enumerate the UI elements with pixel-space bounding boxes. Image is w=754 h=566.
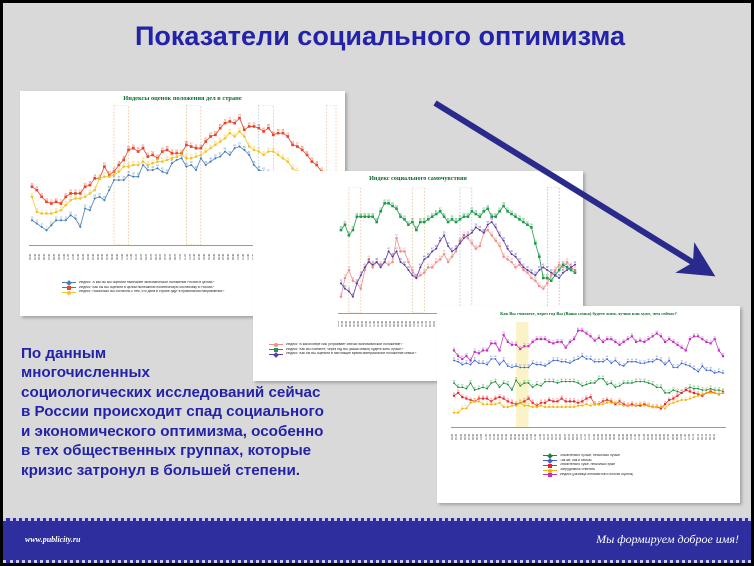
svg-text:42: 42 [161,168,164,171]
svg-text:45: 45 [614,358,617,360]
chart3-legend: Значительно лучше, несколько лучшеТак же… [543,454,733,478]
svg-text:58: 58 [635,339,638,341]
svg-text:20: 20 [84,205,87,208]
svg-text:26: 26 [482,385,485,387]
svg-text:30: 30 [635,379,638,381]
svg-text:60: 60 [544,336,547,338]
svg-text:65: 65 [229,129,232,132]
svg-text:14: 14 [490,402,493,404]
svg-text:29: 29 [503,380,506,382]
svg-text:30: 30 [560,379,563,381]
svg-text:11: 11 [36,220,39,223]
svg-text:30: 30 [565,379,568,381]
svg-text:52: 52 [482,348,485,350]
svg-text:58: 58 [522,219,525,221]
svg-text:13: 13 [31,216,34,219]
svg-text:45: 45 [502,254,505,256]
svg-text:62: 62 [439,208,442,210]
svg-text:39: 39 [693,366,696,368]
svg-text:62: 62 [589,334,592,336]
svg-text:64: 64 [656,331,659,333]
svg-text:69: 69 [253,122,256,125]
svg-text:42: 42 [685,362,688,364]
legend-item[interactable]: Затрудняюсь ответить [543,468,733,472]
svg-text:30: 30 [340,294,343,296]
svg-text:52: 52 [395,235,398,237]
svg-text:15: 15 [610,400,613,402]
svg-text:18: 18 [465,396,468,398]
svg-text:43: 43 [566,259,569,261]
svg-text:58: 58 [556,339,559,341]
legend-item-label: Индекс "А как бы Вы оценили нынешнее эко… [79,281,215,285]
svg-text:14: 14 [602,402,605,404]
svg-text:30: 30 [552,379,555,381]
svg-text:12: 12 [652,404,655,406]
svg-text:26: 26 [461,385,464,387]
svg-text:61: 61 [475,211,478,213]
svg-text:23: 23 [676,389,679,391]
svg-text:64: 64 [272,131,275,134]
svg-text:29: 29 [627,380,630,382]
svg-text:32: 32 [348,288,351,290]
svg-text:57: 57 [190,143,193,146]
svg-text:16: 16 [602,399,605,401]
chart-panel-family-life-forecast[interactable]: Как Вы считаете, через год Вы (Ваша семь… [437,306,740,503]
svg-text:18: 18 [35,208,38,211]
svg-text:40: 40 [526,267,529,269]
svg-text:36: 36 [352,278,355,280]
body-text-line: По данным [21,344,451,363]
svg-text:48: 48 [465,353,468,355]
svg-text:44: 44 [598,359,601,361]
svg-text:48: 48 [581,353,584,355]
svg-text:46: 46 [146,161,149,164]
svg-text:31: 31 [35,186,38,189]
svg-text:40: 40 [127,171,130,174]
svg-text:19: 19 [589,394,592,396]
svg-text:58: 58 [548,339,551,341]
svg-text:63: 63 [286,133,289,136]
footer-bar: www.publicity.ru Мы формируем доброе имя… [3,518,754,563]
svg-text:47: 47 [403,248,406,250]
svg-text:54: 54 [257,148,260,151]
svg-text:40: 40 [348,267,351,269]
legend-item-label: Так же, как и сейчас [560,459,592,463]
legend-item-label: Значительно хуже, несколько хуже [560,463,615,467]
svg-text:24: 24 [714,387,717,389]
svg-text:68: 68 [267,124,270,127]
legend-item-label: Индекс "Как бы Вы оценили в целом нынешн… [79,286,215,290]
svg-text:15: 15 [577,400,580,402]
body-text-line: и экономического оптимизма, особенно [21,422,451,441]
svg-text:38: 38 [709,368,712,370]
svg-text:12: 12 [560,404,563,406]
svg-text:18: 18 [527,396,530,398]
svg-text:22: 22 [722,390,725,392]
legend-marker-icon [62,282,76,283]
svg-text:8: 8 [453,410,455,412]
body-text-line: многочисленных [21,363,451,382]
svg-text:72: 72 [229,117,232,120]
svg-text:15: 15 [540,400,543,402]
svg-text:49: 49 [479,243,482,245]
svg-text:13: 13 [527,403,530,405]
svg-text:60: 60 [367,214,370,216]
presentation-slide: Показатели социального оптимизма Индексы… [0,0,754,566]
svg-text:56: 56 [475,224,478,226]
svg-text:55: 55 [166,146,169,149]
svg-text:24: 24 [474,387,477,389]
svg-text:43: 43 [532,360,535,362]
body-text-line: социологических исследований сейчас [21,383,451,402]
svg-text:45: 45 [103,163,106,166]
svg-text:56: 56 [530,224,533,226]
svg-text:47: 47 [151,159,154,162]
svg-text:51: 51 [502,238,505,240]
svg-text:23: 23 [689,389,692,391]
svg-text:44: 44 [565,359,568,361]
svg-text:62: 62 [693,334,696,336]
svg-text:46: 46 [253,161,256,164]
svg-text:58: 58 [185,141,188,144]
svg-text:39: 39 [132,173,135,176]
svg-text:41: 41 [507,363,510,365]
svg-text:29: 29 [556,380,559,382]
svg-text:43: 43 [399,259,402,261]
svg-text:37: 37 [546,275,549,277]
svg-text:57: 57 [494,341,497,343]
body-text-line: в тех общественных группах, которые [21,441,451,460]
svg-text:43: 43 [680,360,683,362]
svg-text:44: 44 [560,359,563,361]
svg-text:45: 45 [514,254,517,256]
svg-text:58: 58 [705,339,708,341]
svg-text:50: 50 [185,154,188,157]
svg-text:60: 60 [490,214,493,216]
svg-text:25: 25 [697,386,700,388]
svg-text:15: 15 [511,400,514,402]
svg-text:30: 30 [494,379,497,381]
svg-text:40: 40 [511,365,514,367]
svg-text:28: 28 [652,382,655,384]
svg-text:50: 50 [214,154,217,157]
svg-text:62: 62 [631,334,634,336]
svg-text:45: 45 [185,163,188,166]
svg-text:22: 22 [664,390,667,392]
svg-text:52: 52 [498,348,501,350]
svg-text:22: 22 [457,390,460,392]
svg-text:41: 41 [427,264,430,266]
svg-text:55: 55 [243,146,246,149]
svg-text:65: 65 [282,129,285,132]
svg-text:26: 26 [74,195,77,198]
svg-text:35: 35 [340,280,343,282]
svg-text:30: 30 [639,379,642,381]
svg-text:43: 43 [482,360,485,362]
body-text: По данныммногочисленныхсоциологических и… [21,344,451,480]
svg-text:41: 41 [522,264,525,266]
svg-text:54: 54 [224,148,227,151]
svg-text:16: 16 [69,211,72,214]
svg-text:56: 56 [132,144,135,147]
svg-text:62: 62 [660,334,663,336]
svg-text:42: 42 [574,262,577,264]
svg-text:60: 60 [360,214,363,216]
svg-text:17: 17 [668,397,671,399]
svg-text:53: 53 [171,149,174,152]
svg-text:57: 57 [344,222,347,224]
legend-marker-icon [62,292,76,293]
svg-text:42: 42 [540,362,543,364]
svg-text:65: 65 [383,200,386,202]
svg-text:40: 40 [407,267,410,269]
svg-text:15: 15 [672,400,675,402]
svg-text:47: 47 [387,248,390,250]
svg-text:60: 60 [540,336,543,338]
svg-text:46: 46 [443,251,446,253]
svg-text:17: 17 [45,210,48,213]
svg-text:43: 43 [510,259,513,261]
svg-text:58: 58 [614,339,617,341]
svg-text:55: 55 [253,146,256,149]
svg-text:61: 61 [510,211,513,213]
svg-text:56: 56 [494,224,497,226]
svg-text:65: 65 [387,200,390,202]
legend-item[interactable]: Значительно хуже, несколько хуже [543,463,733,467]
svg-text:16: 16 [569,399,572,401]
svg-text:34: 34 [538,283,541,285]
svg-text:63: 63 [243,133,246,136]
svg-text:54: 54 [267,148,270,151]
svg-text:12: 12 [556,404,559,406]
svg-text:18: 18 [486,396,489,398]
svg-text:42: 42 [562,262,565,264]
legend-item-label: Затрудняюсь ответить [560,468,595,472]
svg-text:13: 13 [540,403,543,405]
svg-text:60: 60 [701,336,704,338]
svg-text:24: 24 [672,387,675,389]
svg-text:39: 39 [574,270,577,272]
svg-text:33: 33 [84,183,87,186]
svg-text:54: 54 [161,148,164,151]
svg-text:15: 15 [498,400,501,402]
svg-text:43: 43 [407,259,410,261]
chart2-plot-area: 3037403635334044414342434243524747434037… [338,187,578,313]
svg-text:51: 51 [146,153,149,156]
svg-text:30: 30 [573,379,576,381]
svg-text:22: 22 [705,390,708,392]
svg-text:49: 49 [447,243,450,245]
svg-text:71: 71 [224,119,227,122]
svg-text:22: 22 [693,390,696,392]
legend-item[interactable]: Индекс (разница оптимистов и плохих оцен… [543,473,733,477]
svg-text:17: 17 [685,397,688,399]
svg-text:26: 26 [614,385,617,387]
svg-text:24: 24 [55,198,58,201]
svg-text:58: 58 [672,339,675,341]
svg-text:61: 61 [598,335,601,337]
svg-text:63: 63 [486,206,489,208]
svg-text:44: 44 [291,164,294,167]
svg-text:56: 56 [676,342,679,344]
svg-text:48: 48 [722,353,725,355]
svg-text:44: 44 [506,256,509,258]
svg-text:66: 66 [577,328,580,330]
svg-text:13: 13 [635,403,638,405]
svg-text:30: 30 [569,379,572,381]
svg-text:43: 43 [478,360,481,362]
svg-text:59: 59 [639,338,642,340]
svg-text:45: 45 [453,358,456,360]
svg-text:13: 13 [55,216,58,219]
body-text-line: в России происходит спад социального [21,402,451,421]
svg-text:21: 21 [701,392,704,394]
footer-website-link[interactable]: www.publicity.ru [25,535,80,544]
svg-text:59: 59 [518,216,521,218]
svg-text:52: 52 [248,151,251,154]
svg-text:50: 50 [282,154,285,157]
svg-text:43: 43 [151,166,154,169]
svg-text:12: 12 [544,404,547,406]
svg-text:25: 25 [69,196,72,199]
svg-text:45: 45 [538,254,541,256]
svg-text:15: 15 [532,400,535,402]
svg-text:40: 40 [672,365,675,367]
svg-text:32: 32 [602,376,605,378]
svg-text:29: 29 [623,380,626,382]
svg-text:46: 46 [132,161,135,164]
svg-text:12: 12 [573,404,576,406]
svg-text:58: 58 [507,339,510,341]
svg-text:60: 60 [610,336,613,338]
svg-text:16: 16 [507,399,510,401]
svg-text:14: 14 [482,402,485,404]
svg-text:12: 12 [656,404,659,406]
svg-text:46: 46 [315,161,318,164]
svg-text:60: 60 [714,336,717,338]
svg-text:14: 14 [494,402,497,404]
svg-text:45: 45 [127,163,130,166]
svg-text:39: 39 [550,270,553,272]
svg-text:45: 45 [668,358,671,360]
svg-text:41: 41 [689,363,692,365]
svg-text:21: 21 [718,392,721,394]
svg-text:44: 44 [457,359,460,361]
svg-text:47: 47 [399,248,402,250]
svg-text:50: 50 [534,240,537,242]
svg-text:29: 29 [631,380,634,382]
svg-text:14: 14 [486,402,489,404]
legend-marker-icon [543,455,557,456]
svg-text:25: 25 [709,386,712,388]
svg-text:52: 52 [718,348,721,350]
svg-text:37: 37 [530,275,533,277]
svg-text:17: 17 [606,397,609,399]
svg-text:12: 12 [503,404,506,406]
svg-text:29: 29 [647,380,650,382]
svg-text:26: 26 [660,385,663,387]
svg-text:37: 37 [113,176,116,179]
svg-text:15: 15 [614,400,617,402]
svg-text:56: 56 [195,144,198,147]
svg-text:28: 28 [585,382,588,384]
svg-text:43: 43 [465,360,468,362]
svg-text:44: 44 [631,359,634,361]
svg-text:39: 39 [103,173,106,176]
svg-text:60: 60 [371,214,374,216]
svg-text:37: 37 [718,369,721,371]
svg-text:44: 44 [635,359,638,361]
svg-text:37: 37 [118,176,121,179]
svg-text:52: 52 [277,151,280,154]
svg-text:33: 33 [31,183,34,186]
svg-text:24: 24 [701,387,704,389]
svg-text:53: 53 [490,232,493,234]
svg-text:26: 26 [93,195,96,198]
svg-text:64: 64 [502,203,505,205]
svg-text:53: 53 [498,232,501,234]
legend-item[interactable]: Значительно лучше, несколько лучше [543,454,733,458]
svg-text:53: 53 [443,232,446,234]
svg-text:24: 24 [705,387,708,389]
svg-text:9: 9 [41,223,43,226]
svg-text:56: 56 [233,144,236,147]
svg-text:16: 16 [552,399,555,401]
svg-text:14: 14 [585,402,588,404]
legend-item[interactable]: Так же, как и сейчас [543,459,733,463]
svg-text:48: 48 [506,246,509,248]
svg-text:29: 29 [69,189,72,192]
svg-text:60: 60 [364,214,367,216]
chart3-title: Как Вы считаете, через год Вы (Ваша семь… [437,311,740,316]
svg-text:59: 59 [451,216,454,218]
svg-text:13: 13 [581,403,584,405]
svg-text:29: 29 [469,380,472,382]
svg-text:57: 57 [296,143,299,146]
svg-text:49: 49 [166,156,169,159]
chart3-x-axis: 01.0502.0503.0504.0505.0506.0507.0508.05… [451,429,726,447]
svg-text:17: 17 [548,397,551,399]
svg-text:55: 55 [486,227,489,229]
svg-text:23: 23 [50,200,53,203]
svg-text:54: 54 [272,148,275,151]
svg-text:51: 51 [474,349,477,351]
legend-item-label: Значительно лучше, несколько лучше [560,454,620,458]
svg-text:43: 43 [518,259,521,261]
svg-text:55: 55 [127,146,130,149]
svg-text:63: 63 [209,133,212,136]
svg-text:60: 60 [463,214,466,216]
svg-text:18: 18 [503,396,506,398]
svg-text:27: 27 [31,193,34,196]
legend-item-label: Индекс "Насколько Вы согласны с тем, что… [79,290,225,294]
svg-text:44: 44 [647,359,650,361]
legend-marker-icon [543,465,557,466]
svg-text:12: 12 [507,404,510,406]
svg-text:69: 69 [248,122,251,125]
svg-text:60: 60 [356,214,359,216]
svg-text:36: 36 [722,370,725,372]
svg-text:48: 48 [161,158,164,161]
svg-text:37: 37 [542,275,545,277]
svg-text:29: 29 [577,380,580,382]
svg-text:13: 13 [627,403,630,405]
svg-text:13: 13 [589,403,592,405]
svg-text:30: 30 [352,294,355,296]
svg-text:52: 52 [685,348,688,350]
legend-item-label: Индекс (разница оптимистов и плохих оцен… [560,473,633,477]
legend-marker-icon [543,474,557,475]
